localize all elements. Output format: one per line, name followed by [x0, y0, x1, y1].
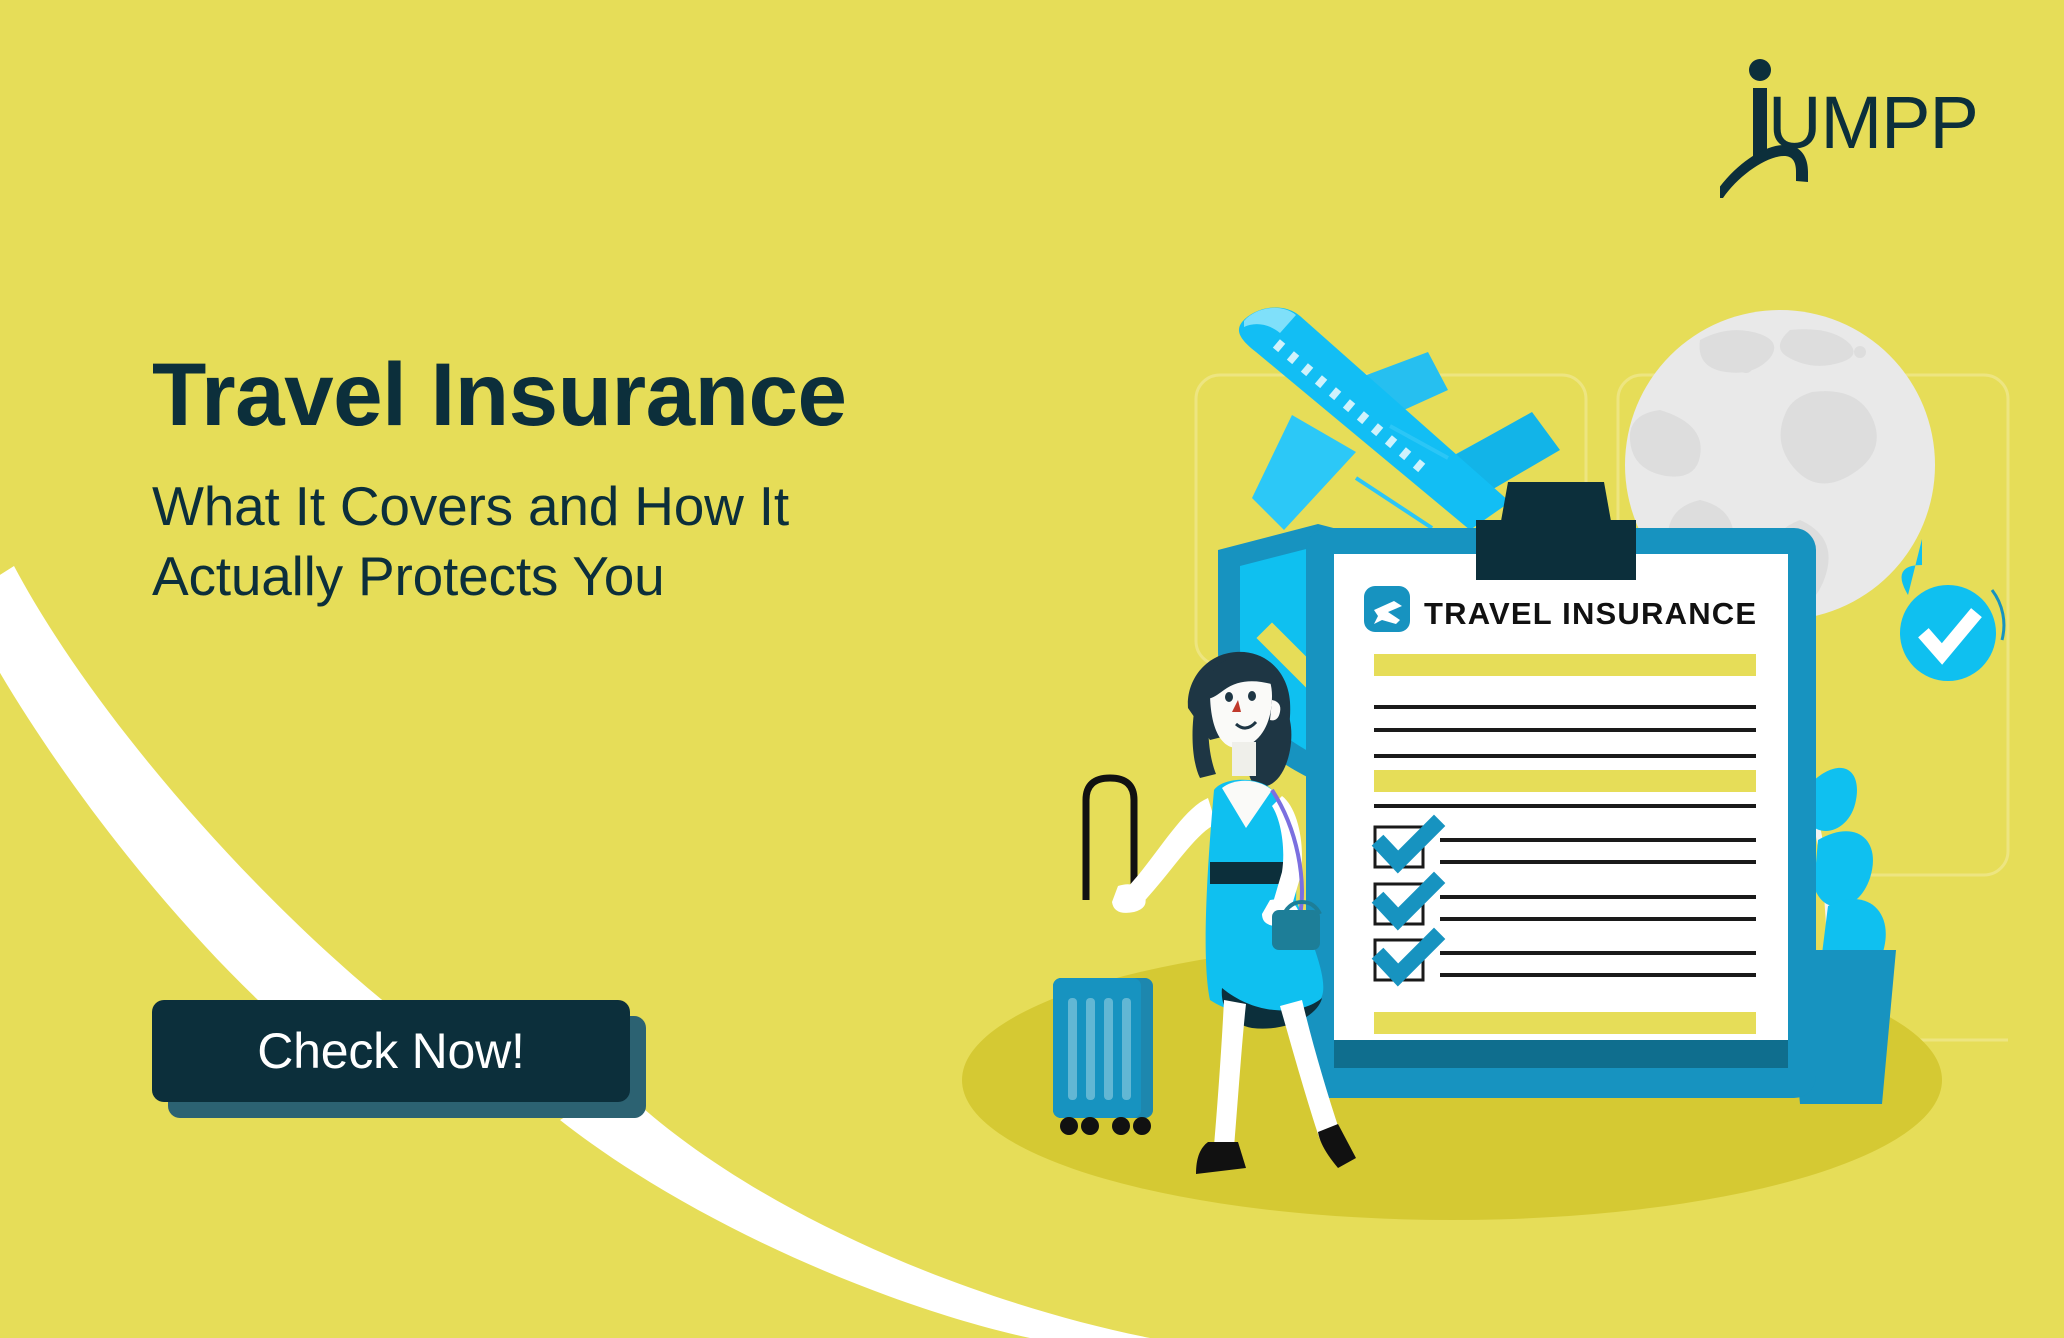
clipboard	[1306, 482, 1816, 1098]
neck	[1232, 742, 1256, 776]
leg-front	[1214, 1000, 1246, 1148]
travel-insurance-banner: UMPP Travel Insurance What It Covers and…	[0, 0, 2064, 1338]
clipboard-title-row	[1364, 586, 1410, 632]
speech-bubble-check-icon	[1900, 539, 2004, 681]
shoe-front	[1196, 1142, 1246, 1174]
illustration-layer: TRAVEL INSURANCE	[0, 0, 2064, 1338]
clipboard-title: TRAVEL INSURANCE	[1424, 596, 1757, 631]
shoe-back	[1318, 1124, 1356, 1168]
clipboard-highlight-bar	[1374, 654, 1756, 676]
dress	[1206, 780, 1324, 1017]
handbag-icon	[1272, 910, 1320, 950]
clipboard-highlight-bar	[1374, 1012, 1756, 1034]
clipboard-paper-shadow	[1334, 1040, 1788, 1068]
suitcase-icon	[1053, 778, 1153, 1135]
clipboard-highlight-bar	[1374, 770, 1756, 792]
